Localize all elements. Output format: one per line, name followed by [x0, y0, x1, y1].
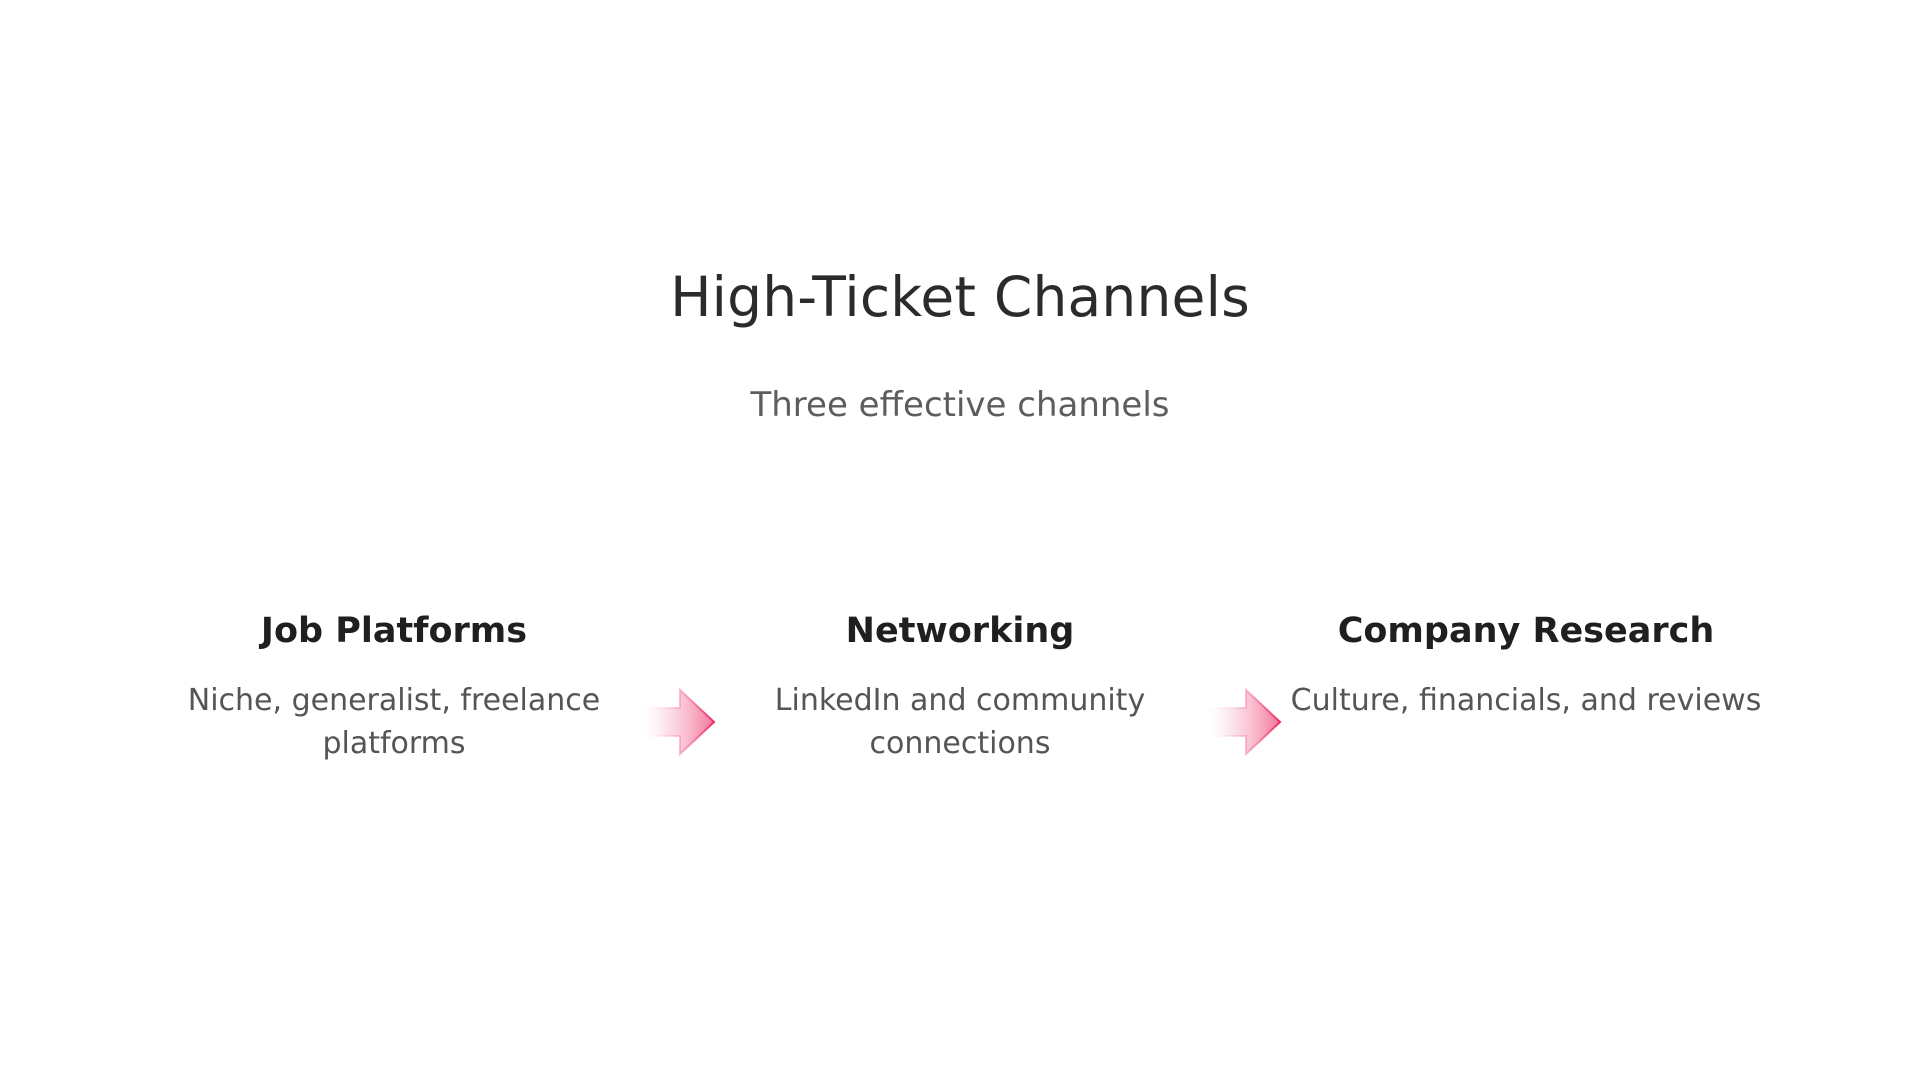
step-description: Culture, financials, and reviews — [1290, 651, 1762, 723]
step-title: Job Platforms — [158, 612, 630, 651]
step-description: Niche, generalist, freelance platforms — [158, 651, 630, 765]
step-description: LinkedIn and community connections — [724, 651, 1196, 765]
process-step-2: Networking LinkedIn and community connec… — [720, 612, 1200, 765]
page-title: High-Ticket Channels — [0, 268, 1920, 327]
step-title: Networking — [724, 612, 1196, 651]
slide-canvas: High-Ticket Channels Three effective cha… — [0, 0, 1920, 1080]
process-flow: Job Platforms Niche, generalist, freelan… — [120, 612, 1800, 792]
process-connector-1 — [634, 612, 720, 792]
process-connector-2 — [1200, 612, 1286, 792]
process-step-3: Company Research Culture, financials, an… — [1286, 612, 1766, 723]
step-title: Company Research — [1290, 612, 1762, 651]
right-arrow-icon — [640, 690, 714, 754]
right-arrow-icon — [1206, 690, 1280, 754]
page-subtitle: Three effective channels — [0, 327, 1920, 424]
slide-header: High-Ticket Channels Three effective cha… — [0, 268, 1920, 425]
process-step-1: Job Platforms Niche, generalist, freelan… — [154, 612, 634, 765]
